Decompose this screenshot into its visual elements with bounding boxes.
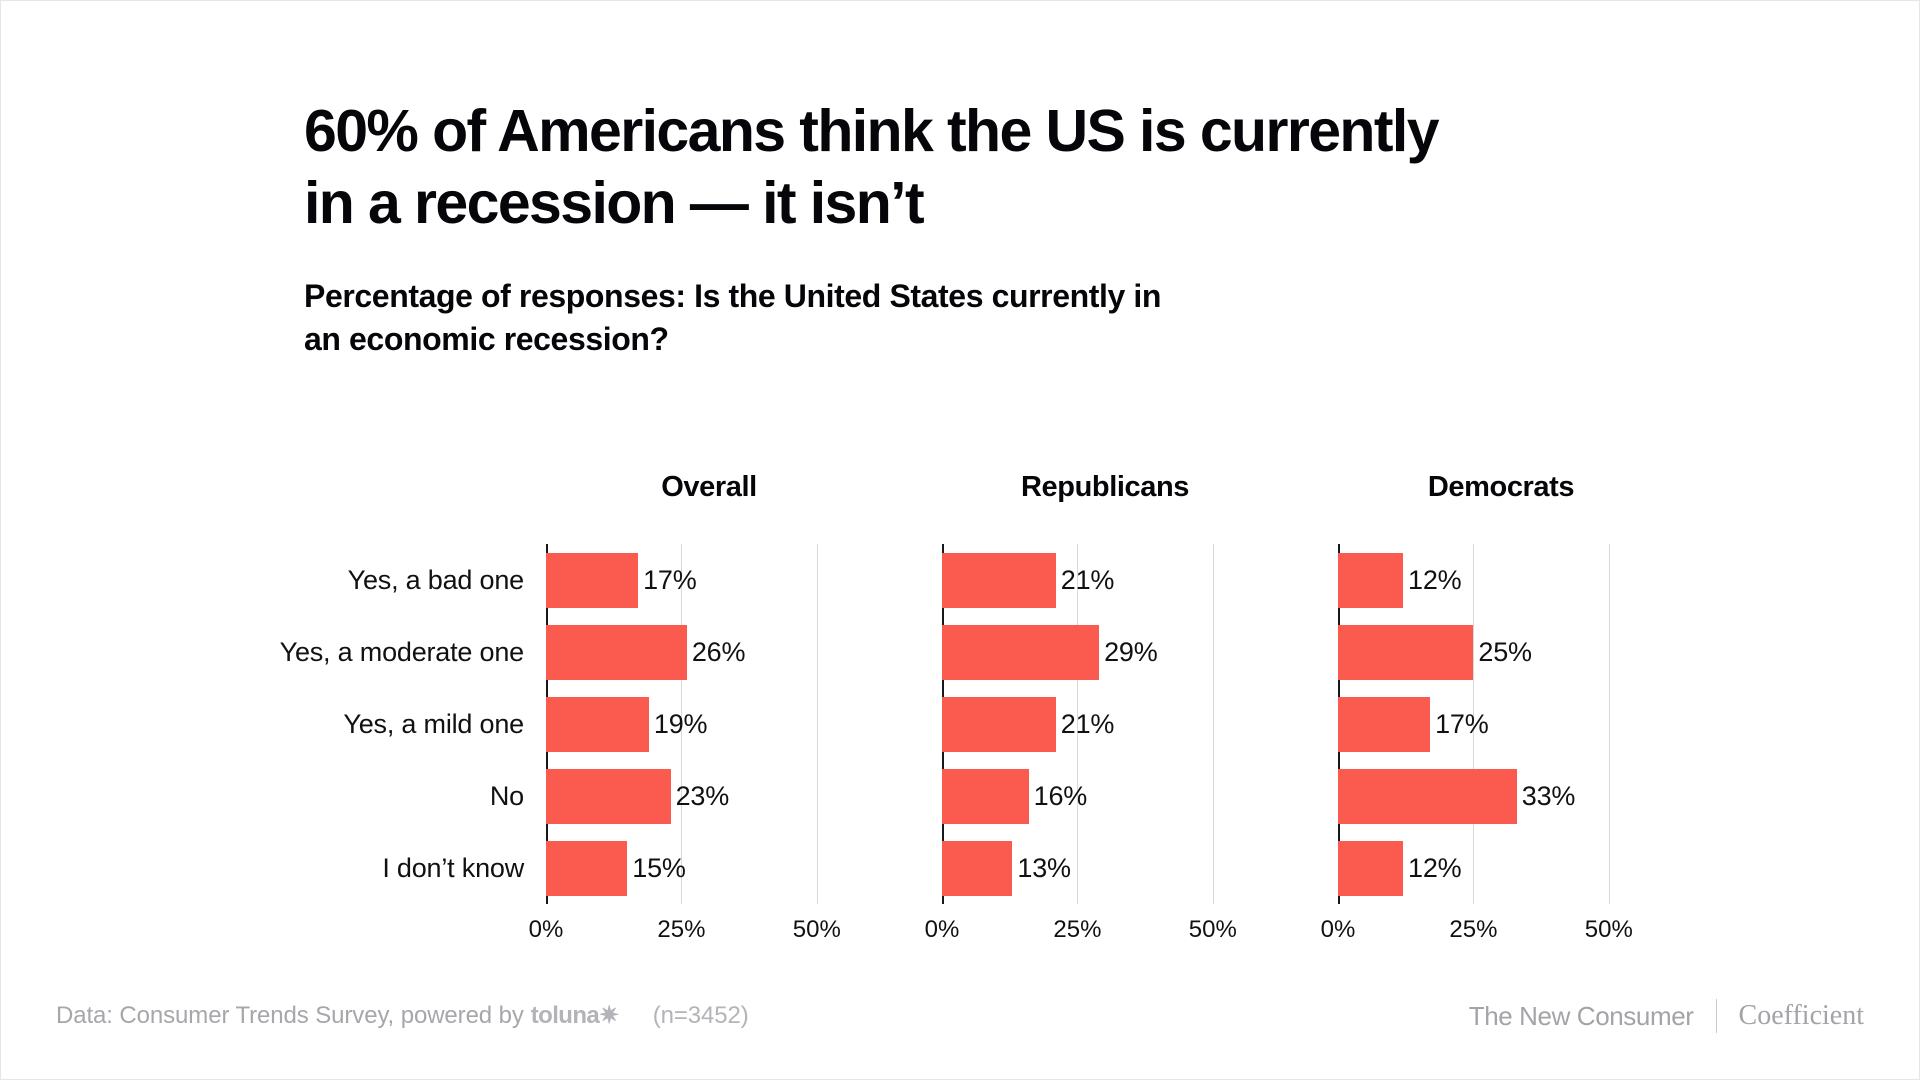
category-label-column: Yes, a bad oneYes, a moderate oneYes, a …: [1, 471, 546, 950]
brand-lockup: The New Consumer Coefficient: [1469, 999, 1864, 1033]
bar-row[interactable]: 13%: [942, 832, 1338, 904]
panel-republicans: Republicans21%29%21%16%13%0%25%50%: [942, 471, 1338, 950]
coefficient-logo: Coefficient: [1739, 1000, 1864, 1032]
x-tick-label: 50%: [1585, 916, 1633, 944]
header-block: 60% of Americans think the US is current…: [304, 96, 1784, 361]
bar-row[interactable]: 15%: [546, 832, 942, 904]
category-row: Yes, a bad one: [1, 544, 546, 616]
bar-row[interactable]: 25%: [1338, 616, 1734, 688]
bar-value-label: 19%: [654, 709, 707, 740]
bar-value-label: 17%: [643, 565, 696, 596]
bar[interactable]: [942, 553, 1056, 608]
panel-title-label: Overall: [546, 471, 942, 504]
bar[interactable]: [942, 769, 1029, 824]
category-row: Yes, a mild one: [1, 688, 546, 760]
data-source: Data: Consumer Trends Survey, powered by…: [56, 1001, 749, 1030]
sample-size-text: (n=3452): [653, 1002, 749, 1030]
x-tick-label: 0%: [1321, 916, 1356, 944]
bar[interactable]: [546, 697, 649, 752]
bar[interactable]: [1338, 841, 1403, 896]
x-tick-label: 50%: [1189, 916, 1237, 944]
bar-row[interactable]: 26%: [546, 616, 942, 688]
bar[interactable]: [546, 769, 671, 824]
x-axis: 0%25%50%: [546, 904, 942, 950]
chart-canvas: 60% of Americans think the US is current…: [0, 0, 1920, 1080]
x-tick-label: 25%: [1449, 916, 1497, 944]
panel-title: Overall: [546, 471, 942, 544]
bar[interactable]: [942, 625, 1099, 680]
bar[interactable]: [1338, 625, 1473, 680]
panel-title-label: Democrats: [1338, 471, 1734, 504]
chart-plot-area: Yes, a bad oneYes, a moderate oneYes, a …: [1, 471, 1920, 951]
panel-bars: 12%25%17%33%12%: [1338, 544, 1734, 904]
bar-row[interactable]: 16%: [942, 760, 1338, 832]
bar-row[interactable]: 29%: [942, 616, 1338, 688]
bar-value-label: 13%: [1017, 853, 1070, 884]
bar[interactable]: [942, 841, 1012, 896]
bar[interactable]: [546, 553, 638, 608]
category-label: I don’t know: [382, 853, 524, 884]
bar-row[interactable]: 21%: [942, 688, 1338, 760]
x-tick-label: 50%: [793, 916, 841, 944]
category-label: Yes, a bad one: [348, 565, 524, 596]
bar[interactable]: [1338, 697, 1430, 752]
x-axis: 0%25%50%: [942, 904, 1338, 950]
bar-row[interactable]: 17%: [546, 544, 942, 616]
category-row: Yes, a moderate one: [1, 616, 546, 688]
chart-subtitle: Percentage of responses: Is the United S…: [304, 275, 1604, 361]
panel-democrats: Democrats12%25%17%33%12%0%25%50%: [1338, 471, 1734, 950]
bar-value-label: 21%: [1061, 709, 1114, 740]
category-label: Yes, a mild one: [343, 709, 524, 740]
panel-bars: 21%29%21%16%13%: [942, 544, 1338, 904]
bar-value-label: 12%: [1408, 565, 1461, 596]
bar-value-label: 25%: [1478, 637, 1531, 668]
bar-row[interactable]: 17%: [1338, 688, 1734, 760]
bar-value-label: 26%: [692, 637, 745, 668]
bar-row[interactable]: 12%: [1338, 832, 1734, 904]
x-tick-label: 25%: [1053, 916, 1101, 944]
category-label: Yes, a moderate one: [280, 637, 524, 668]
panel-title: Democrats: [1338, 471, 1734, 544]
footer: Data: Consumer Trends Survey, powered by…: [1, 1001, 1919, 1041]
panel-overall: Overall17%26%19%23%15%0%25%50%: [546, 471, 942, 950]
bar[interactable]: [1338, 553, 1403, 608]
category-row: No: [1, 760, 546, 832]
toluna-logo: toluna✷: [531, 1001, 619, 1030]
source-prefix-text: Data: Consumer Trends Survey, powered by: [56, 1002, 524, 1030]
category-row: I don’t know: [1, 832, 546, 904]
bar-value-label: 29%: [1104, 637, 1157, 668]
bar[interactable]: [942, 697, 1056, 752]
panel-group: Yes, a bad oneYes, a moderate oneYes, a …: [1, 471, 1734, 950]
x-tick-label: 0%: [925, 916, 960, 944]
bar-row[interactable]: 19%: [546, 688, 942, 760]
bar-value-label: 21%: [1061, 565, 1114, 596]
bar-value-label: 15%: [632, 853, 685, 884]
panel-title-label: Republicans: [942, 471, 1338, 504]
bar[interactable]: [546, 625, 687, 680]
bar-row[interactable]: 12%: [1338, 544, 1734, 616]
bar-value-label: 33%: [1522, 781, 1575, 812]
category-label: No: [490, 781, 524, 812]
bar[interactable]: [1338, 769, 1517, 824]
bar[interactable]: [546, 841, 627, 896]
bar-value-label: 23%: [676, 781, 729, 812]
bar-value-label: 17%: [1435, 709, 1488, 740]
bar-row[interactable]: 21%: [942, 544, 1338, 616]
bar-row[interactable]: 33%: [1338, 760, 1734, 832]
x-tick-label: 0%: [529, 916, 564, 944]
the-new-consumer-logo: The New Consumer: [1469, 1001, 1694, 1032]
panel-bars: 17%26%19%23%15%: [546, 544, 942, 904]
bar-value-label: 12%: [1408, 853, 1461, 884]
bar-value-label: 16%: [1034, 781, 1087, 812]
brand-divider: [1716, 999, 1717, 1033]
x-axis: 0%25%50%: [1338, 904, 1734, 950]
x-tick-label: 25%: [657, 916, 705, 944]
page-title: 60% of Americans think the US is current…: [304, 96, 1784, 240]
bar-row[interactable]: 23%: [546, 760, 942, 832]
panel-title: Republicans: [942, 471, 1338, 544]
